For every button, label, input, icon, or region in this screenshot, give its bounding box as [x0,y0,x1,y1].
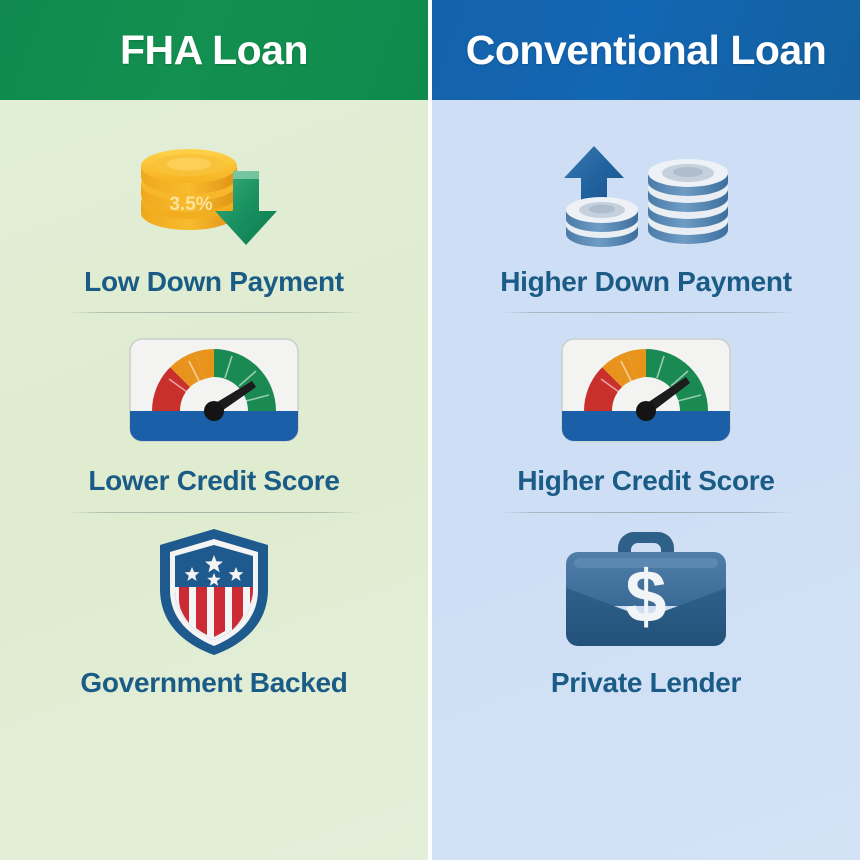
credit-score-gauge-icon-slot-2 [558,331,734,449]
fha-column-title: FHA Loan [120,30,308,71]
briefcase-dollar-icon: $ [560,522,732,662]
column-divider [428,0,432,860]
fha-feature-label-0: Low Down Payment [84,266,344,298]
dollar-sign-icon: $ [625,555,666,638]
conventional-feature-list: Higher Down Payment [432,100,860,860]
conventional-column: Conventional Loan [432,0,860,860]
conventional-feature-private-lender: $ Private Lender [432,513,860,733]
conventional-feature-label-2: Private Lender [551,667,741,699]
dollar-sign-text: $ [625,555,666,638]
conventional-feature-label-0: Higher Down Payment [500,266,791,298]
fha-column: FHA Loan [0,0,428,860]
fha-feature-lower-credit-score: Lower Credit Score [0,313,428,513]
fha-feature-label-1: Lower Credit Score [88,465,339,497]
coin-stacks-up-arrow-icon-slot [558,132,734,250]
conventional-feature-higher-credit-score: Higher Credit Score [432,313,860,513]
fha-feature-list: 3.5% Low Down Payment [0,100,428,860]
credit-score-gauge-icon [126,335,302,445]
conventional-feature-label-1: Higher Credit Score [517,465,774,497]
conventional-column-title: Conventional Loan [466,30,827,71]
coin-stack-down-arrow-icon-slot: 3.5% [129,132,299,250]
flag-shield-icon [152,525,276,659]
coin-stack-tall [648,159,728,244]
infographic-canvas: FHA Loan [0,0,860,860]
conventional-column-header: Conventional Loan [432,0,860,100]
credit-score-gauge-icon [558,335,734,445]
coin-stacks-up-arrow-icon [558,132,734,250]
flag-shield-icon-slot [152,533,276,651]
fha-feature-low-down-payment: 3.5% Low Down Payment [0,108,428,313]
fha-feature-label-2: Government Backed [80,667,347,699]
fha-column-header: FHA Loan [0,0,428,100]
coin-stack-short [566,197,638,247]
credit-score-gauge-icon-slot [126,331,302,449]
coin-stack-down-arrow-icon: 3.5% [129,135,299,247]
fha-feature-government-backed: Government Backed [0,513,428,733]
briefcase-dollar-icon-slot: $ [560,533,732,651]
conventional-feature-higher-down-payment: Higher Down Payment [432,108,860,313]
down-payment-percent-text: 3.5% [169,194,212,215]
